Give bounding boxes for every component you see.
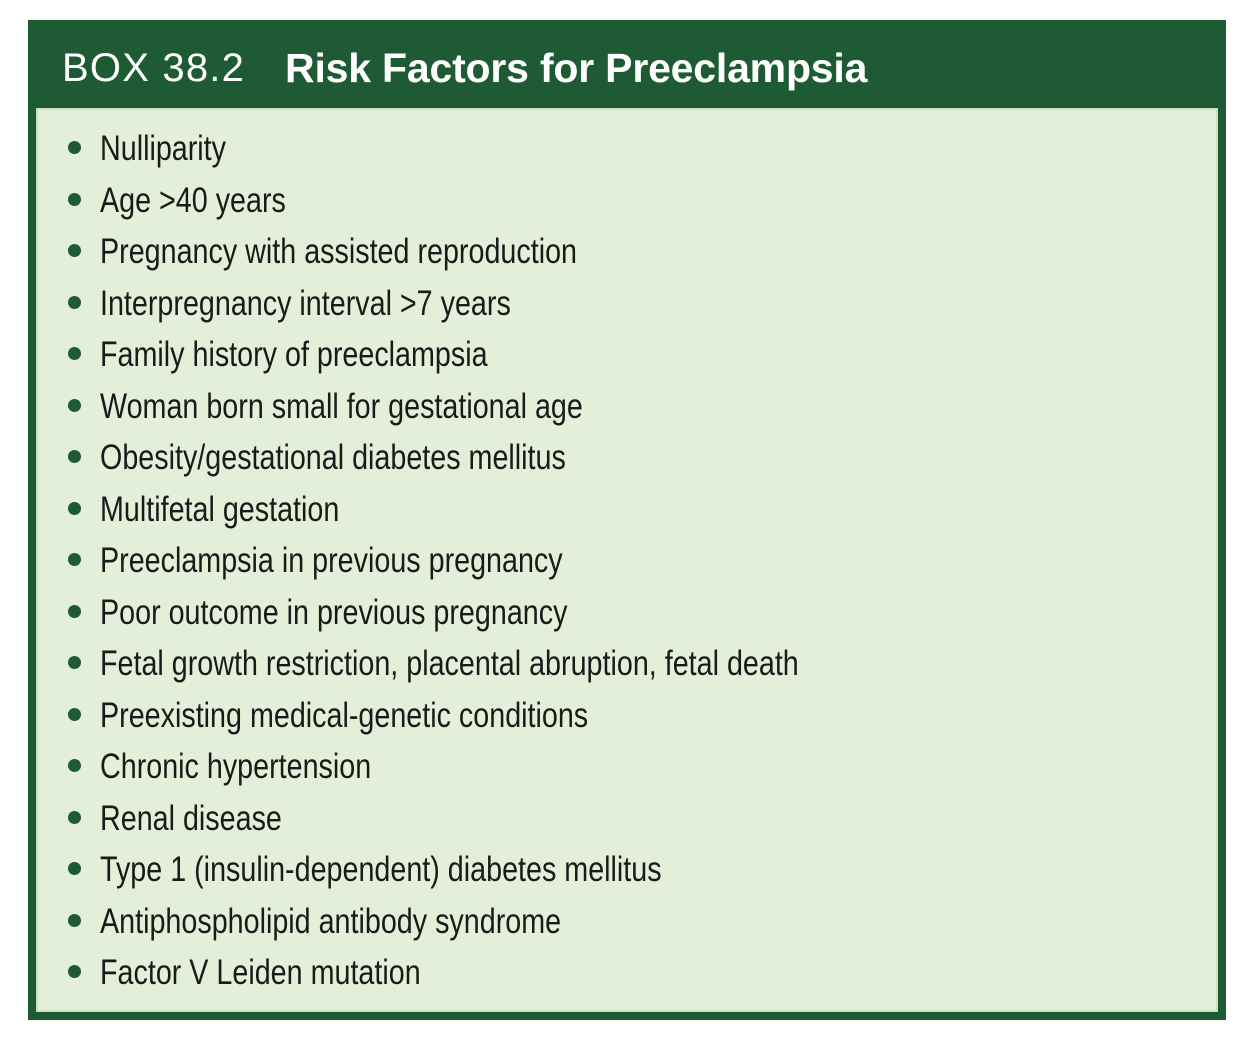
bullet-icon <box>68 399 81 412</box>
list-item: Obesity/gestational diabetes mellitus <box>36 439 1218 491</box>
list-item-label: Nulliparity <box>100 130 226 168</box>
list-item-label: Type 1 (insulin-dependent) diabetes mell… <box>100 851 662 889</box>
risk-factors-box: BOX 38.2 Risk Factors for Preeclampsia N… <box>28 20 1226 1020</box>
box-title: Risk Factors for Preeclampsia <box>285 45 867 92</box>
list-item-label: Interpregnancy interval >7 years <box>100 285 511 323</box>
list-item: Fetal growth restriction, placental abru… <box>36 645 1218 697</box>
list-item: Preexisting medical-genetic conditions <box>36 697 1218 749</box>
list-item-label: Antiphospholipid antibody syndrome <box>100 903 561 941</box>
bullet-icon <box>68 244 81 257</box>
list-item: Antiphospholipid antibody syndrome <box>36 903 1218 955</box>
bullet-icon <box>68 296 81 309</box>
bullet-icon <box>68 347 81 360</box>
list-item: Nulliparity <box>36 130 1218 182</box>
list-item: Age >40 years <box>36 182 1218 234</box>
box-body: Nulliparity Age >40 years Pregnancy with… <box>36 108 1218 1012</box>
list-item: Pregnancy with assisted reproduction <box>36 233 1218 285</box>
list-item-label: Factor V Leiden mutation <box>100 954 421 992</box>
list-item: Factor V Leiden mutation <box>36 954 1218 1006</box>
bullet-icon <box>68 605 81 618</box>
bullet-icon <box>68 811 81 824</box>
list-item-label: Fetal growth restriction, placental abru… <box>100 645 799 683</box>
list-item-label: Chronic hypertension <box>100 748 371 786</box>
list-item: Chronic hypertension <box>36 748 1218 800</box>
bullet-icon <box>68 193 81 206</box>
bullet-icon <box>68 553 81 566</box>
bullet-icon <box>68 141 81 154</box>
list-item: Poor outcome in previous pregnancy <box>36 594 1218 646</box>
list-item-label: Obesity/gestational diabetes mellitus <box>100 439 566 477</box>
bullet-icon <box>68 759 81 772</box>
list-item-label: Preexisting medical-genetic conditions <box>100 697 588 735</box>
box-number-label: BOX 38.2 <box>62 46 245 91</box>
list-item: Renal disease <box>36 800 1218 852</box>
list-item-label: Preeclampsia in previous pregnancy <box>100 542 563 580</box>
list-item-label: Poor outcome in previous pregnancy <box>100 594 567 632</box>
list-item-label: Multifetal gestation <box>100 491 339 529</box>
bullet-icon <box>68 450 81 463</box>
bullet-icon <box>68 914 81 927</box>
list-item-label: Renal disease <box>100 800 282 838</box>
list-item: Preeclampsia in previous pregnancy <box>36 542 1218 594</box>
list-item-label: Woman born small for gestational age <box>100 388 583 426</box>
risk-factor-list: Nulliparity Age >40 years Pregnancy with… <box>36 130 1218 1006</box>
bullet-icon <box>68 656 81 669</box>
list-item: Multifetal gestation <box>36 491 1218 543</box>
box-header: BOX 38.2 Risk Factors for Preeclampsia <box>36 28 1218 108</box>
list-item: Type 1 (insulin-dependent) diabetes mell… <box>36 851 1218 903</box>
list-item: Interpregnancy interval >7 years <box>36 285 1218 337</box>
list-item: Family history of preeclampsia <box>36 336 1218 388</box>
list-item-label: Age >40 years <box>100 182 286 220</box>
bullet-icon <box>68 708 81 721</box>
list-item-label: Pregnancy with assisted reproduction <box>100 233 577 271</box>
bullet-icon <box>68 502 81 515</box>
list-item: Woman born small for gestational age <box>36 388 1218 440</box>
list-item-label: Family history of preeclampsia <box>100 336 488 374</box>
bullet-icon <box>68 965 81 978</box>
bullet-icon <box>68 862 81 875</box>
